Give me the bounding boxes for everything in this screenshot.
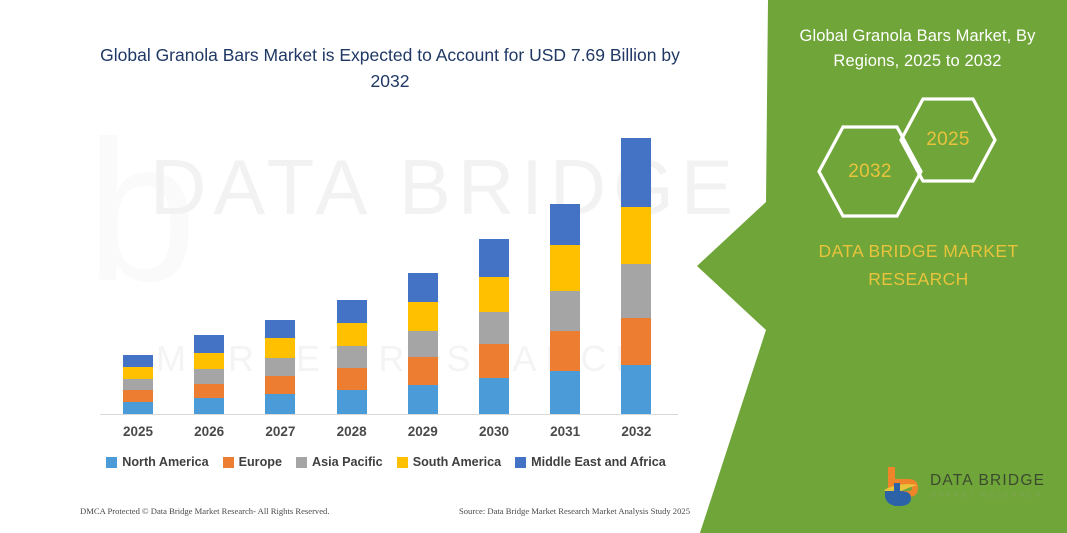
bar-segment-2028-0[interactable] <box>337 390 367 414</box>
legend-label-3: South America <box>413 455 501 469</box>
bar-segment-2032-4[interactable] <box>621 138 651 207</box>
bar-segment-2028-2[interactable] <box>337 346 367 368</box>
legend-label-2: Asia Pacific <box>312 455 383 469</box>
bar-2029[interactable] <box>408 273 438 414</box>
data-bridge-logo: DATA BRIDGE MARKET RESEARCH <box>878 462 1054 510</box>
bar-segment-2030-0[interactable] <box>479 378 509 414</box>
x-axis-label-2032: 2032 <box>606 424 666 439</box>
logo-text: DATA BRIDGE MARKET RESEARCH <box>930 472 1045 500</box>
bar-segment-2032-3[interactable] <box>621 207 651 264</box>
x-axis-line <box>100 414 678 415</box>
chart-legend: North AmericaEuropeAsia PacificSouth Ame… <box>86 455 686 469</box>
bar-segment-2030-2[interactable] <box>479 312 509 344</box>
bar-2032[interactable] <box>621 138 651 414</box>
x-axis-label-2025: 2025 <box>108 424 168 439</box>
bar-segment-2026-2[interactable] <box>194 369 224 384</box>
bar-segment-2025-0[interactable] <box>123 402 153 414</box>
panel-brand: DATA BRIDGE MARKET RESEARCH <box>778 237 1059 293</box>
bar-segment-2031-1[interactable] <box>550 331 580 371</box>
bar-segment-2025-4[interactable] <box>123 355 153 367</box>
bar-segment-2030-3[interactable] <box>479 277 509 312</box>
bar-segment-2031-4[interactable] <box>550 204 580 245</box>
bar-2028[interactable] <box>337 300 367 414</box>
legend-swatch-icon-1 <box>223 457 234 468</box>
bar-segment-2025-1[interactable] <box>123 390 153 402</box>
bar-segment-2027-4[interactable] <box>265 320 295 339</box>
legend-item-4[interactable]: Middle East and Africa <box>515 455 666 469</box>
bar-2026[interactable] <box>194 335 224 415</box>
logo-mark-icon <box>878 463 924 509</box>
panel-title: Global Granola Bars Market, By Regions, … <box>782 24 1053 74</box>
bar-2030[interactable] <box>479 239 509 414</box>
bar-segment-2032-1[interactable] <box>621 318 651 365</box>
x-axis-label-2028: 2028 <box>322 424 382 439</box>
bar-2025[interactable] <box>123 355 153 414</box>
legend-label-1: Europe <box>239 455 282 469</box>
panel-brand-line2: RESEARCH <box>778 265 1059 293</box>
bar-segment-2026-3[interactable] <box>194 353 224 369</box>
footer-copyright: DMCA Protected © Data Bridge Market Rese… <box>80 506 330 516</box>
bar-segment-2029-2[interactable] <box>408 331 438 358</box>
bar-segment-2029-0[interactable] <box>408 385 438 414</box>
logo-title: DATA BRIDGE <box>930 472 1045 489</box>
bar-segment-2028-3[interactable] <box>337 323 367 347</box>
bar-2031[interactable] <box>550 204 580 414</box>
legend-item-0[interactable]: North America <box>106 455 208 469</box>
footer: DMCA Protected © Data Bridge Market Rese… <box>80 506 690 516</box>
hexagon-start-year-label: 2025 <box>926 129 969 151</box>
right-panel: Global Granola Bars Market, By Regions, … <box>770 0 1067 533</box>
legend-item-2[interactable]: Asia Pacific <box>296 455 383 469</box>
hexagon-end-year-label: 2032 <box>848 161 891 183</box>
legend-item-1[interactable]: Europe <box>223 455 282 469</box>
logo-subtitle: MARKET RESEARCH <box>930 490 1045 500</box>
bar-segment-2031-0[interactable] <box>550 371 580 414</box>
hexagon-badge-start-year: 2025 <box>898 96 998 184</box>
x-axis-label-2029: 2029 <box>393 424 453 439</box>
bar-segment-2026-4[interactable] <box>194 335 224 354</box>
bar-segment-2031-2[interactable] <box>550 291 580 330</box>
x-axis-label-2030: 2030 <box>464 424 524 439</box>
bar-segment-2026-0[interactable] <box>194 398 224 414</box>
bar-segment-2027-0[interactable] <box>265 394 295 414</box>
hexagon-badges: 2032 2025 <box>770 96 1067 216</box>
bar-segment-2029-1[interactable] <box>408 357 438 385</box>
stacked-bar-chart <box>100 120 680 415</box>
panel-brand-line1: DATA BRIDGE MARKET <box>778 237 1059 265</box>
infographic-canvas: b DATA BRIDGE MARKET RESEARCH Global Gra… <box>0 0 1067 533</box>
x-axis-label-2027: 2027 <box>250 424 310 439</box>
bar-segment-2027-2[interactable] <box>265 358 295 376</box>
bar-segment-2030-4[interactable] <box>479 239 509 276</box>
legend-label-4: Middle East and Africa <box>531 455 666 469</box>
legend-item-3[interactable]: South America <box>397 455 501 469</box>
legend-swatch-icon-3 <box>397 457 408 468</box>
bar-segment-2025-3[interactable] <box>123 367 153 379</box>
x-axis-labels: 20252026202720282029203020312032 <box>100 424 680 448</box>
bar-segment-2030-1[interactable] <box>479 344 509 377</box>
x-axis-label-2026: 2026 <box>179 424 239 439</box>
legend-swatch-icon-0 <box>106 457 117 468</box>
footer-source: Source: Data Bridge Market Research Mark… <box>459 506 690 516</box>
page-title: Global Granola Bars Market is Expected t… <box>86 42 694 94</box>
bar-segment-2027-1[interactable] <box>265 376 295 395</box>
bar-segment-2028-4[interactable] <box>337 300 367 323</box>
legend-swatch-icon-4 <box>515 457 526 468</box>
bar-segment-2026-1[interactable] <box>194 384 224 399</box>
bar-segment-2029-4[interactable] <box>408 273 438 302</box>
bar-segment-2028-1[interactable] <box>337 368 367 391</box>
bar-segment-2031-3[interactable] <box>550 245 580 291</box>
legend-label-0: North America <box>122 455 208 469</box>
legend-swatch-icon-2 <box>296 457 307 468</box>
bar-segment-2032-0[interactable] <box>621 365 651 414</box>
x-axis-label-2031: 2031 <box>535 424 595 439</box>
bar-2027[interactable] <box>265 320 295 414</box>
bar-segment-2032-2[interactable] <box>621 264 651 318</box>
bar-segment-2027-3[interactable] <box>265 338 295 358</box>
bar-segment-2029-3[interactable] <box>408 302 438 330</box>
bar-segment-2025-2[interactable] <box>123 379 153 391</box>
